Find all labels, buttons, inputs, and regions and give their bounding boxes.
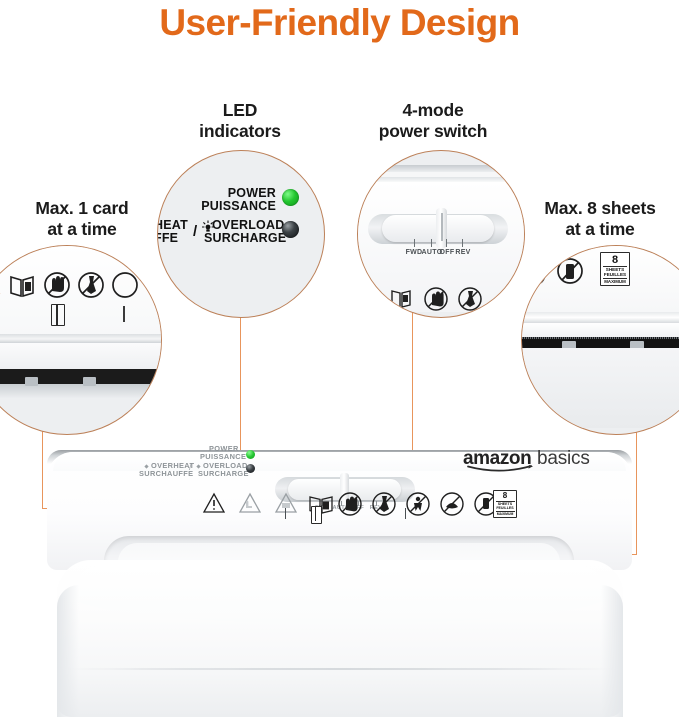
housing-below-slot (521, 348, 679, 428)
slot-tab-right (83, 377, 96, 386)
power-led-indicator (282, 189, 299, 206)
switch-tick-off (446, 239, 447, 247)
warning-hand-triangle-icon (240, 494, 260, 512)
no-necklace-icon (113, 273, 137, 297)
product-slot-tick-right (405, 508, 406, 519)
product-badge-line3: MAXIMUM (494, 512, 516, 516)
warning-triangle-icon (204, 494, 224, 512)
power-switch-detail: FWD AUTO OFF REV (358, 151, 524, 317)
card-slot-detail (0, 246, 161, 434)
read-manual-icon (11, 277, 33, 296)
caption-led-line1: LED (178, 100, 302, 121)
housing-top-edge (357, 165, 525, 172)
caption-switch-line1: 4-mode (358, 100, 508, 121)
warning-jam-triangle-icon (276, 494, 296, 512)
switch-tick-auto (431, 239, 432, 247)
product-badge-line2: FEUILLES (494, 506, 516, 510)
caption-sheets-line2: at a time (522, 219, 678, 240)
caption-sheets-line1: Max. 8 sheets (522, 198, 678, 219)
no-spray-icon (441, 493, 463, 515)
shredder-bin-seam (60, 668, 620, 670)
led-indicator-detail: POWER PUISSANCE HEAT FFE / OVERLOAD SURC… (158, 151, 324, 317)
no-children-icon (407, 493, 429, 515)
caption-sheet-slot: Max. 8 sheets at a time (522, 198, 678, 240)
caption-power-switch: 4-mode power switch (358, 100, 508, 142)
badge-count: 8 (601, 254, 629, 266)
page-title: User-Friendly Design (0, 2, 679, 44)
no-hand-icon (425, 288, 447, 310)
no-tie-icon (459, 288, 481, 310)
panel-power-fr: PUISSANCE (200, 453, 246, 462)
product-card-slot-marking (311, 506, 322, 524)
badge-line2: FEUILLES (601, 272, 629, 277)
badge-line3: MAXIMUM (601, 279, 629, 284)
no-hand-icon (339, 493, 361, 515)
card-slot-marking (51, 304, 65, 326)
zoom-bubble-led-indicators: POWER PUISSANCE HEAT FFE / OVERLOAD SURC… (157, 150, 325, 318)
panel-overload-led (246, 464, 255, 473)
no-necklace-icon (523, 263, 545, 285)
caption-card-slot-line2: at a time (2, 219, 162, 240)
shredder-bin-highlight (72, 566, 608, 624)
panel-edge (0, 334, 162, 343)
slot-lip-upper (521, 312, 679, 323)
sheet-slot-detail: 8 SHEETS FEUILLES MAXIMUM (522, 246, 679, 434)
panel-edge-lower (0, 343, 162, 369)
card-slot-lip (0, 384, 162, 398)
panel-power-led (246, 450, 255, 459)
panel-overload-fr: SURCHARGE (198, 470, 249, 479)
panel-separator: / (189, 462, 192, 472)
caption-card-slot: Max. 1 card at a time (2, 198, 162, 240)
led-overheat-fr: FFE (157, 232, 194, 246)
brand-word-basics: basics (537, 448, 590, 470)
slot-tick-right (123, 306, 125, 322)
brand-smile-icon (467, 465, 535, 474)
no-hand-icon (45, 273, 69, 297)
switch-fin-line (441, 213, 443, 241)
infographic-canvas: User-Friendly Design Max. 1 card at a ti… (0, 0, 679, 717)
caption-card-slot-line1: Max. 1 card (2, 198, 162, 219)
switch-label-rev: REV (449, 249, 477, 256)
product-sheet-capacity-badge-icon: 8 SHEETS FEUILLES MAXIMUM (493, 490, 517, 518)
slot-tab-left (25, 377, 38, 386)
switch-tick-rev (462, 239, 463, 247)
sheet-capacity-badge-icon: 8 SHEETS FEUILLES MAXIMUM (600, 252, 630, 286)
product-warning-icon-row (200, 490, 520, 518)
read-manual-icon (392, 291, 410, 307)
sheet-warning-icons (522, 254, 592, 288)
switch-tick-fwd (414, 239, 415, 247)
no-tie-icon (373, 493, 395, 515)
led-overload-fr: SURCHARGE (204, 232, 276, 246)
caption-led-indicators: LED indicators (178, 100, 302, 142)
led-separator: / (193, 223, 197, 240)
shredder-bin-shade-left (57, 585, 79, 717)
zoom-bubble-power-switch: FWD AUTO OFF REV (357, 150, 525, 318)
caption-led-line2: indicators (178, 121, 302, 142)
product-slot-tick-left (285, 508, 286, 519)
zoom-bubble-card-slot (0, 245, 162, 435)
no-spray-icon (558, 259, 582, 283)
product-badge-count: 8 (494, 491, 516, 500)
led-power-fr: PUISSANCE (198, 200, 276, 214)
panel-overheat-fr: SURCHAUFFE (139, 470, 193, 479)
paper-slot-teeth (521, 337, 679, 339)
icon-row-peek (388, 285, 508, 311)
no-tie-icon (79, 273, 103, 297)
connector-led-vertical (240, 310, 241, 456)
zoom-bubble-sheet-slot: 8 SHEETS FEUILLES MAXIMUM (521, 245, 679, 435)
brand-logo: amazon basics (463, 448, 583, 474)
slot-lip-lower (521, 323, 679, 337)
overload-led-indicator (282, 221, 299, 238)
caption-switch-line2: power switch (358, 121, 508, 142)
warning-icon-row (0, 268, 162, 302)
shredder-bin-shade-right (601, 585, 623, 717)
